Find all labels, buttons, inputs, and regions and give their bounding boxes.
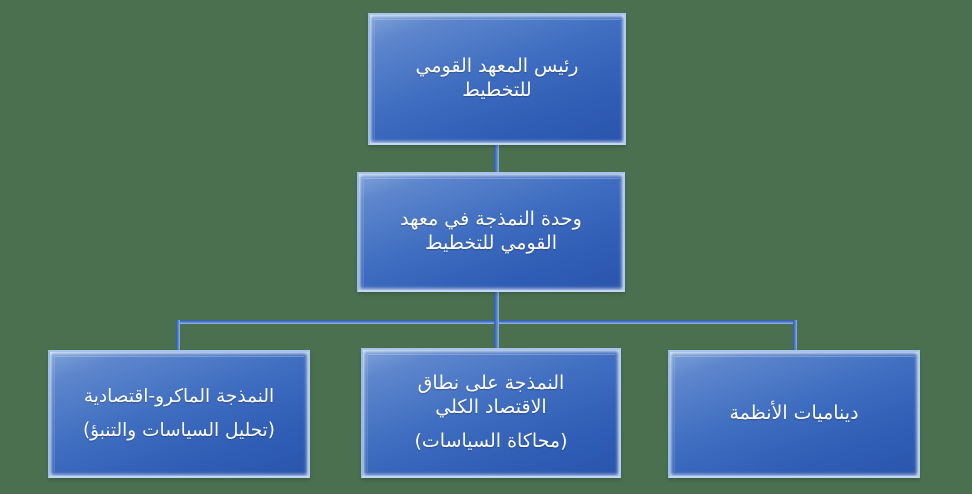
node-macro-scale-modeling[interactable]: النمذجة على نطاق الاقتصاد الكلي (محاكاة … xyxy=(361,348,621,478)
connector-president-to-unit xyxy=(494,143,499,174)
node-macro-scale-line-3: (محاكاة السياسات) xyxy=(371,430,611,454)
org-chart-canvas: رئيس المعهد القومي للتخطيط وحدة النمذجة … xyxy=(0,0,972,494)
node-president-line-2: للتخطيط xyxy=(378,79,616,103)
node-president[interactable]: رئيس المعهد القومي للتخطيط xyxy=(368,13,626,145)
node-system-dynamics-line-1: ديناميات الأنظمة xyxy=(678,402,910,426)
connector-horizontal-bus xyxy=(176,320,797,324)
node-modeling-unit-line-2: القومي للتخطيط xyxy=(367,232,615,256)
node-system-dynamics[interactable]: ديناميات الأنظمة xyxy=(668,350,920,478)
node-macro-economic-line-2: (تحليل السياسات والتنبؤ) xyxy=(58,420,300,443)
node-macro-economic-modeling[interactable]: النمذجة الماكرو-اقتصادية (تحليل السياسات… xyxy=(48,350,310,478)
connector-branch-left xyxy=(176,320,180,352)
node-president-line-1: رئيس المعهد القومي xyxy=(378,55,616,79)
connector-branch-right xyxy=(793,320,797,352)
node-macro-economic-line-1: النمذجة الماكرو-اقتصادية xyxy=(58,386,300,409)
node-modeling-unit[interactable]: وحدة النمذجة في معهد القومي للتخطيط xyxy=(357,172,625,292)
node-macro-scale-line-1: النمذجة على نطاق xyxy=(371,372,611,396)
connector-unit-dropline xyxy=(494,290,499,324)
node-modeling-unit-line-1: وحدة النمذجة في معهد xyxy=(367,208,615,232)
node-macro-scale-line-2: الاقتصاد الكلي xyxy=(371,396,611,420)
connector-branch-center xyxy=(494,320,499,350)
